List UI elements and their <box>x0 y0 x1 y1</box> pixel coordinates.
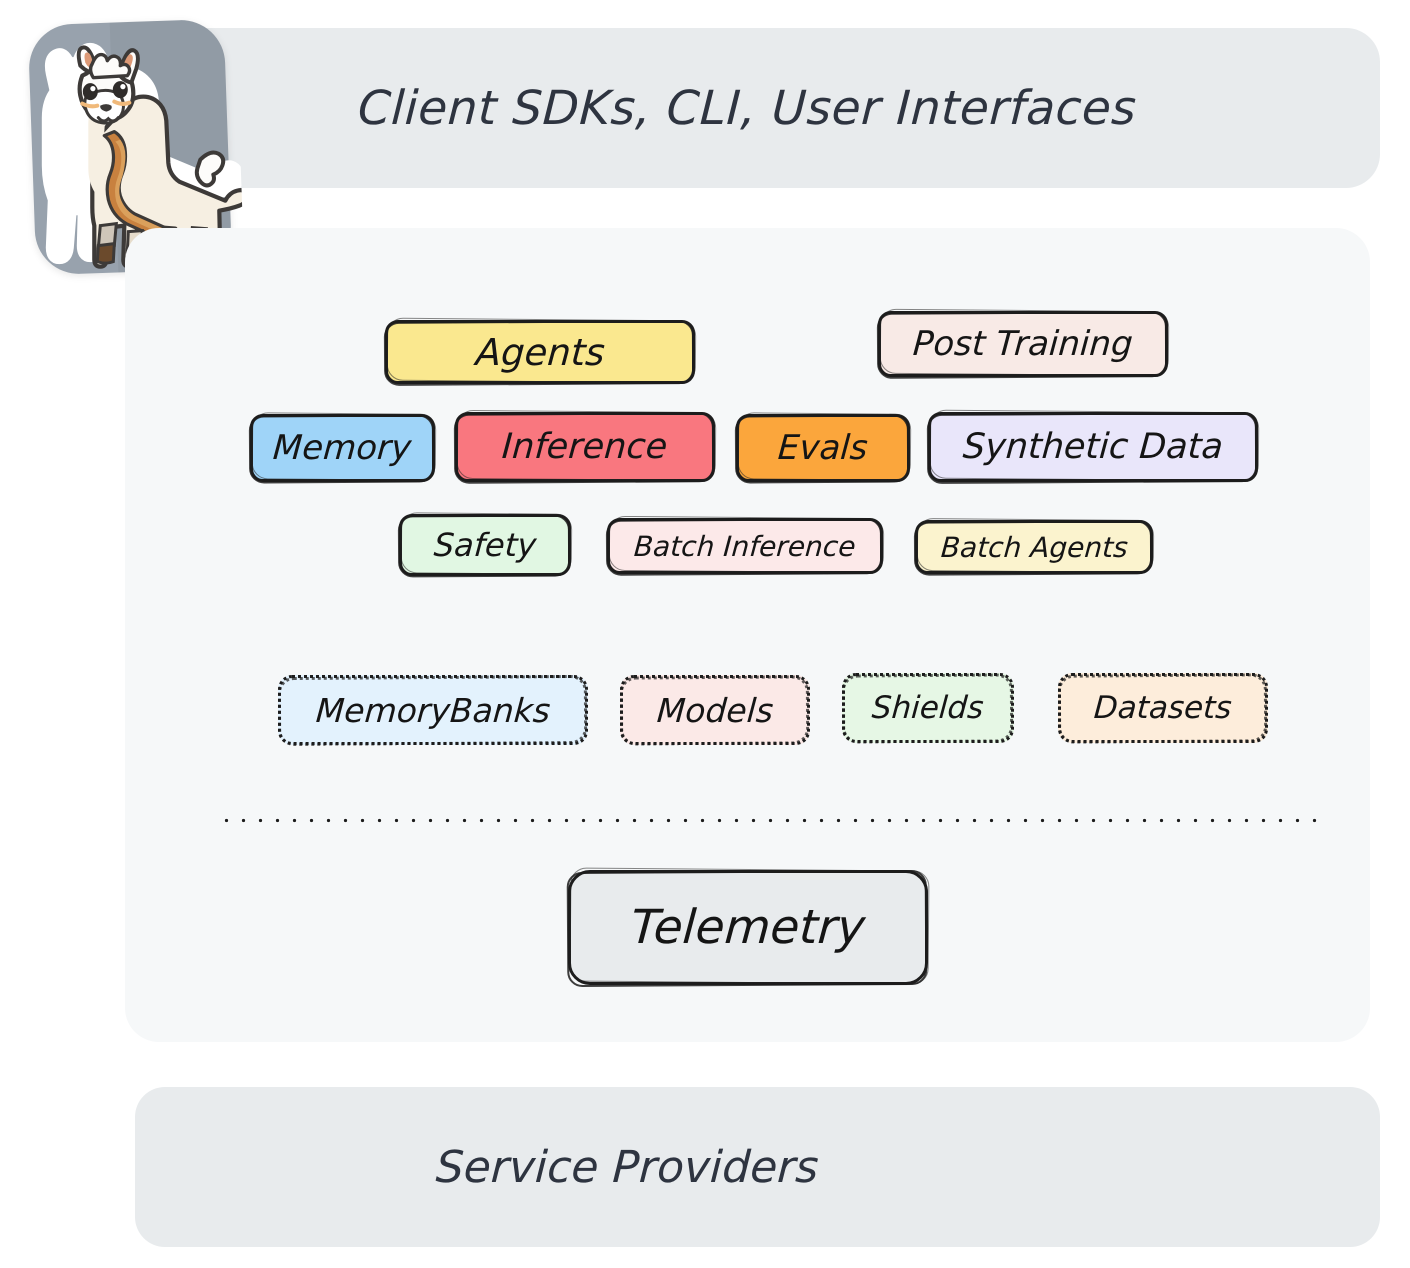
api-node-label: Inference <box>501 427 669 467</box>
resource-node-datasets[interactable]: Datasets <box>1058 673 1268 743</box>
telemetry-label: Telemetry <box>629 900 867 955</box>
api-node-batch-agents[interactable]: Batch Agents <box>915 520 1153 574</box>
api-node-post-training[interactable]: Post Training <box>878 311 1168 377</box>
api-node-label: Batch Agents <box>939 531 1128 564</box>
api-node-label: Evals <box>777 428 869 468</box>
diagram-canvas: Client SDKs, CLI, User Interfaces <box>0 0 1410 1268</box>
api-node-label: Safety <box>432 526 537 564</box>
resource-node-memorybanks[interactable]: MemoryBanks <box>278 675 588 745</box>
service-providers-title: Service Providers <box>435 1142 820 1193</box>
api-node-label: Post Training <box>912 324 1134 364</box>
api-node-label: Synthetic Data <box>962 427 1225 467</box>
resource-node-models[interactable]: Models <box>620 675 810 745</box>
resource-node-label: Shields <box>871 690 985 726</box>
api-node-agents[interactable]: Agents <box>385 320 695 384</box>
api-node-safety[interactable]: Safety <box>399 514 571 576</box>
page-title: Client SDKs, CLI, User Interfaces <box>357 81 1138 136</box>
service-providers-panel: Service Providers <box>135 1087 1380 1247</box>
dotted-divider <box>218 818 1318 823</box>
resource-node-label: MemoryBanks <box>314 691 551 730</box>
resource-node-label: Datasets <box>1093 690 1233 726</box>
api-node-memory[interactable]: Memory <box>250 414 435 482</box>
api-node-label: Memory <box>272 428 413 468</box>
api-node-evals[interactable]: Evals <box>736 414 910 482</box>
api-node-batch-inference[interactable]: Batch Inference <box>607 518 883 574</box>
api-node-label: Agents <box>474 331 606 374</box>
resource-node-shields[interactable]: Shields <box>842 673 1014 743</box>
resource-node-label: Models <box>655 691 774 730</box>
api-node-inference[interactable]: Inference <box>455 412 715 482</box>
telemetry-node[interactable]: Telemetry <box>568 870 928 985</box>
api-node-label: Batch Inference <box>633 530 857 563</box>
client-interfaces-panel: Client SDKs, CLI, User Interfaces <box>165 28 1380 188</box>
api-node-synthetic-data[interactable]: Synthetic Data <box>928 412 1258 482</box>
